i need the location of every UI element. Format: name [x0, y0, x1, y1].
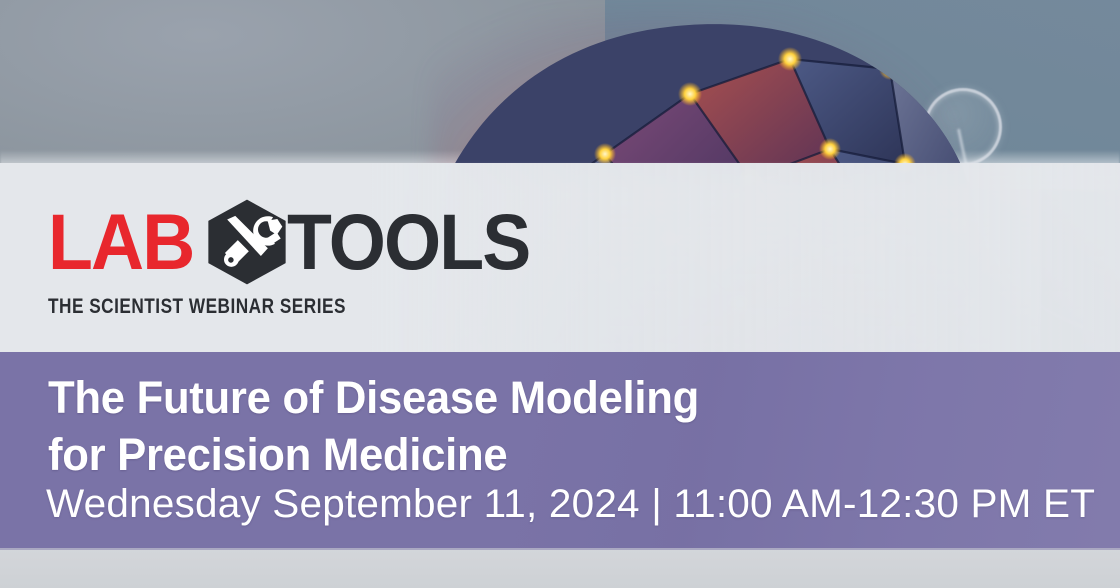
webinar-datetime: Wednesday September 11, 2024 | 11:00 AM-…	[46, 483, 1095, 526]
labtools-logo: LAB	[48, 196, 548, 319]
wrench-and-pipette-hexagon-icon	[201, 196, 293, 288]
logo-lab-text: LAB	[48, 209, 193, 275]
bottom-strip	[0, 548, 1120, 588]
logo-tools-text: TOOLS	[287, 209, 529, 275]
logo-tagline: THE SCIENTIST WEBINAR SERIES	[48, 295, 346, 319]
webinar-title: The Future of Disease Modeling for Preci…	[48, 370, 699, 483]
logo-wordmark-row: LAB	[48, 196, 548, 288]
webinar-promo-banner: LAB	[0, 0, 1120, 588]
